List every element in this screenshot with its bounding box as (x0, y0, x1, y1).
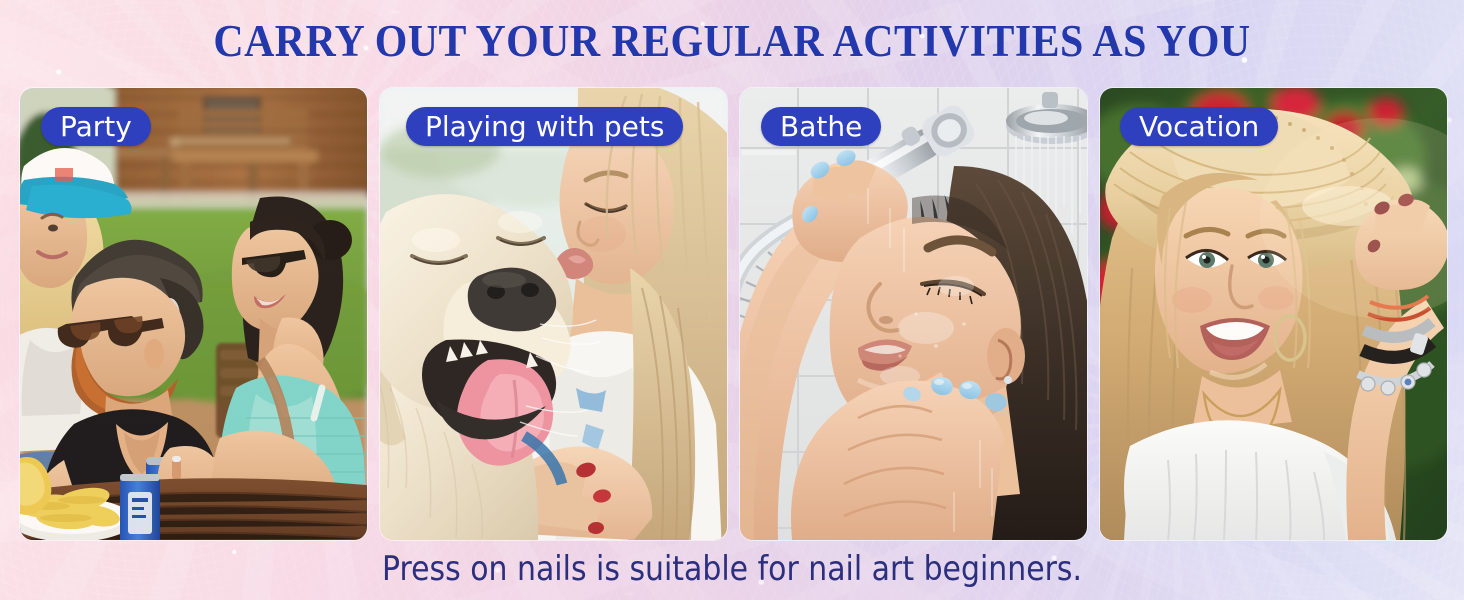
panel-badge-party: Party (41, 107, 151, 146)
vocation-photo (1100, 88, 1447, 540)
panel-badge-playing-with-pets: Playing with pets (406, 107, 683, 146)
bathe-photo (740, 88, 1087, 540)
banner-headline: CARRY OUT YOUR REGULAR ACTIVITIES AS YOU (51, 17, 1413, 65)
photo-panel-party: Party (20, 88, 367, 540)
photo-panel-playing-with-pets: Playing with pets (380, 88, 727, 540)
playing-with-pets-photo (380, 88, 727, 540)
photo-panel-vocation: Vocation (1100, 88, 1447, 540)
lifestyle-photo-row: Party (20, 88, 1444, 540)
panel-badge-bathe: Bathe (761, 107, 881, 146)
banner-caption: Press on nails is suitable for nail art … (88, 548, 1376, 590)
party-photo (20, 88, 367, 540)
panel-badge-vocation: Vocation (1120, 107, 1278, 146)
product-feature-banner: CARRY OUT YOUR REGULAR ACTIVITIES AS YOU (0, 0, 1464, 600)
photo-panel-bathe: Bathe (740, 88, 1087, 540)
